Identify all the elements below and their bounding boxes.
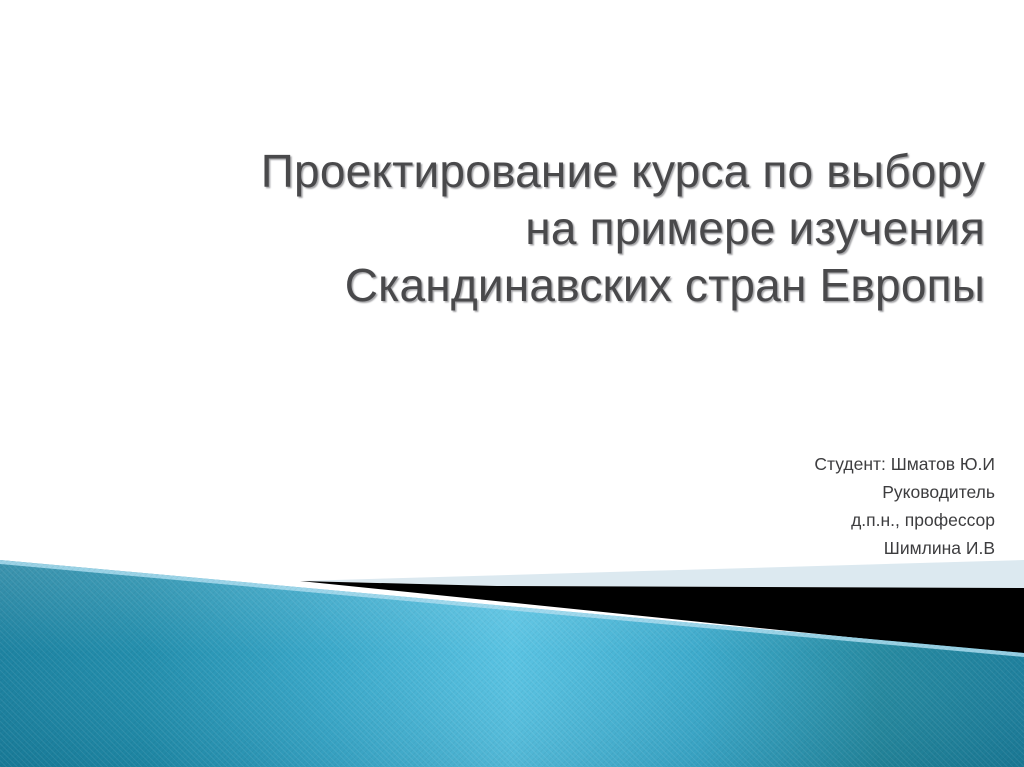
subtitle-line-supervisor-label: Руководитель (520, 478, 995, 506)
subtitle-line-supervisor-degree: д.п.н., профессор (520, 506, 995, 534)
banner-svg (0, 540, 1024, 767)
slide-title: Проектирование курса по выбору на пример… (60, 143, 985, 314)
title-line-2: на примере изучения (60, 200, 985, 257)
title-slide: Проектирование курса по выбору на пример… (0, 0, 1024, 767)
title-line-1: Проектирование курса по выбору (60, 143, 985, 200)
subtitle-line-student: Студент: Шматов Ю.И (520, 450, 995, 478)
title-line-3: Скандинавских стран Европы (60, 257, 985, 314)
angled-banner-decoration (0, 540, 1024, 767)
